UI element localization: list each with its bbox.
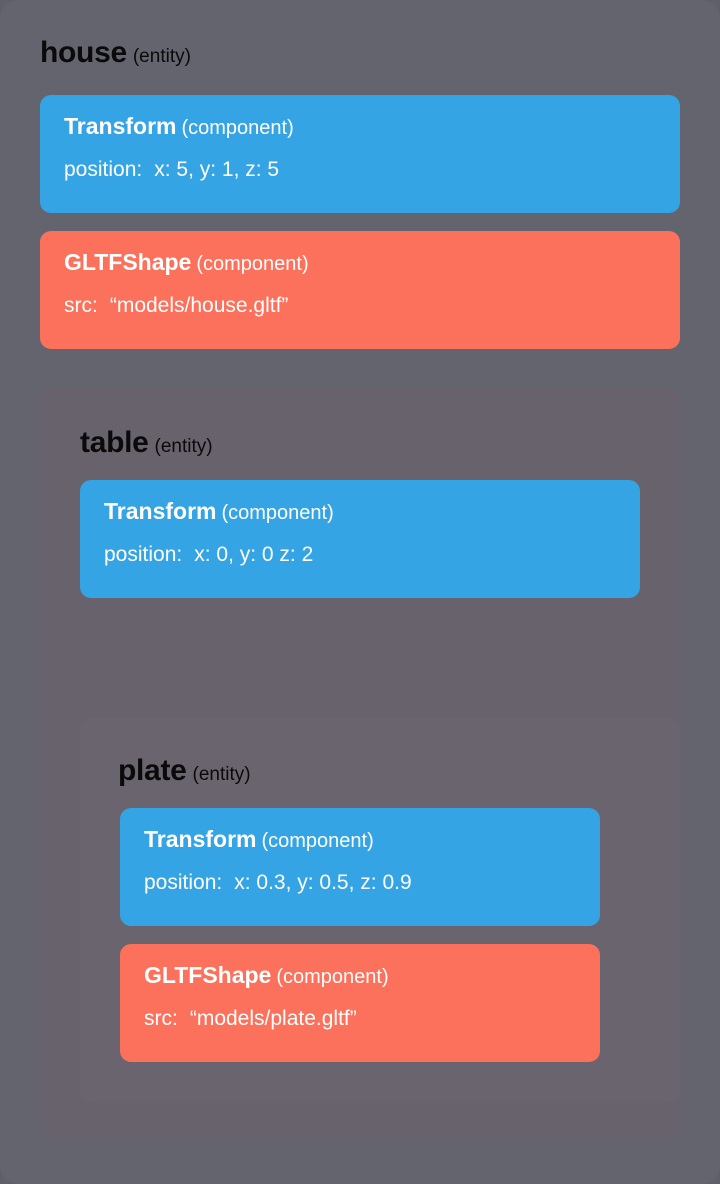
property-key: position: [144, 871, 222, 894]
entity-name-plate: plate [118, 754, 187, 787]
component-tag: (component) [196, 253, 308, 275]
entity-title-house: house(entity) [40, 38, 191, 68]
component-header: Transform(component) [64, 115, 656, 138]
component-tag: (component) [276, 966, 388, 988]
property-value: “models/house.gltf” [110, 294, 289, 317]
entity-tag-house: (entity) [133, 46, 191, 67]
property-key: src: [144, 1007, 178, 1030]
component-tag: (component) [221, 502, 333, 524]
component-name: Transform [144, 826, 256, 852]
component-property: position:x: 5, y: 1, z: 5 [64, 138, 656, 180]
entity-title-plate: plate(entity) [118, 756, 251, 786]
component-property: position:x: 0.3, y: 0.5, z: 0.9 [144, 851, 576, 893]
component-header: Transform(component) [104, 500, 616, 523]
property-key: position: [104, 543, 182, 566]
entity-title-table: table(entity) [80, 428, 213, 458]
component-card-plate-gltfshape[interactable]: GLTFShape(component) src:“models/plate.g… [120, 944, 600, 1062]
component-name: Transform [64, 113, 176, 139]
property-value: x: 0.3, y: 0.5, z: 0.9 [234, 871, 411, 894]
property-value: “models/plate.gltf” [190, 1007, 357, 1030]
component-name: GLTFShape [144, 962, 271, 988]
component-property: src:“models/plate.gltf” [144, 987, 576, 1029]
entity-group-plate: plate(entity) Transform(component) posit… [80, 718, 680, 1103]
component-tag: (component) [261, 830, 373, 852]
component-property: position:x: 0, y: 0 z: 2 [104, 523, 616, 565]
property-value: x: 0, y: 0 z: 2 [194, 543, 313, 566]
component-header: Transform(component) [144, 828, 576, 851]
entity-group-table: table(entity) Transform(component) posit… [40, 388, 680, 1140]
entity-name-table: table [80, 426, 149, 459]
component-name: Transform [104, 498, 216, 524]
component-name: GLTFShape [64, 249, 191, 275]
entity-name-house: house [40, 36, 127, 69]
component-tag: (component) [181, 117, 293, 139]
entity-tag-plate: (entity) [193, 764, 251, 785]
component-property: src:“models/house.gltf” [64, 274, 656, 316]
property-value: x: 5, y: 1, z: 5 [154, 158, 279, 181]
component-header: GLTFShape(component) [144, 964, 576, 987]
property-key: src: [64, 294, 98, 317]
component-card-house-transform[interactable]: Transform(component) position:x: 5, y: 1… [40, 95, 680, 213]
property-key: position: [64, 158, 142, 181]
entity-group-house: house(entity) Transform(component) posit… [0, 0, 720, 1184]
component-card-table-transform[interactable]: Transform(component) position:x: 0, y: 0… [80, 480, 640, 598]
diagram-canvas: house(entity) Transform(component) posit… [0, 0, 720, 1184]
component-header: GLTFShape(component) [64, 251, 656, 274]
component-card-house-gltfshape[interactable]: GLTFShape(component) src:“models/house.g… [40, 231, 680, 349]
component-card-plate-transform[interactable]: Transform(component) position:x: 0.3, y:… [120, 808, 600, 926]
entity-tag-table: (entity) [155, 436, 213, 457]
